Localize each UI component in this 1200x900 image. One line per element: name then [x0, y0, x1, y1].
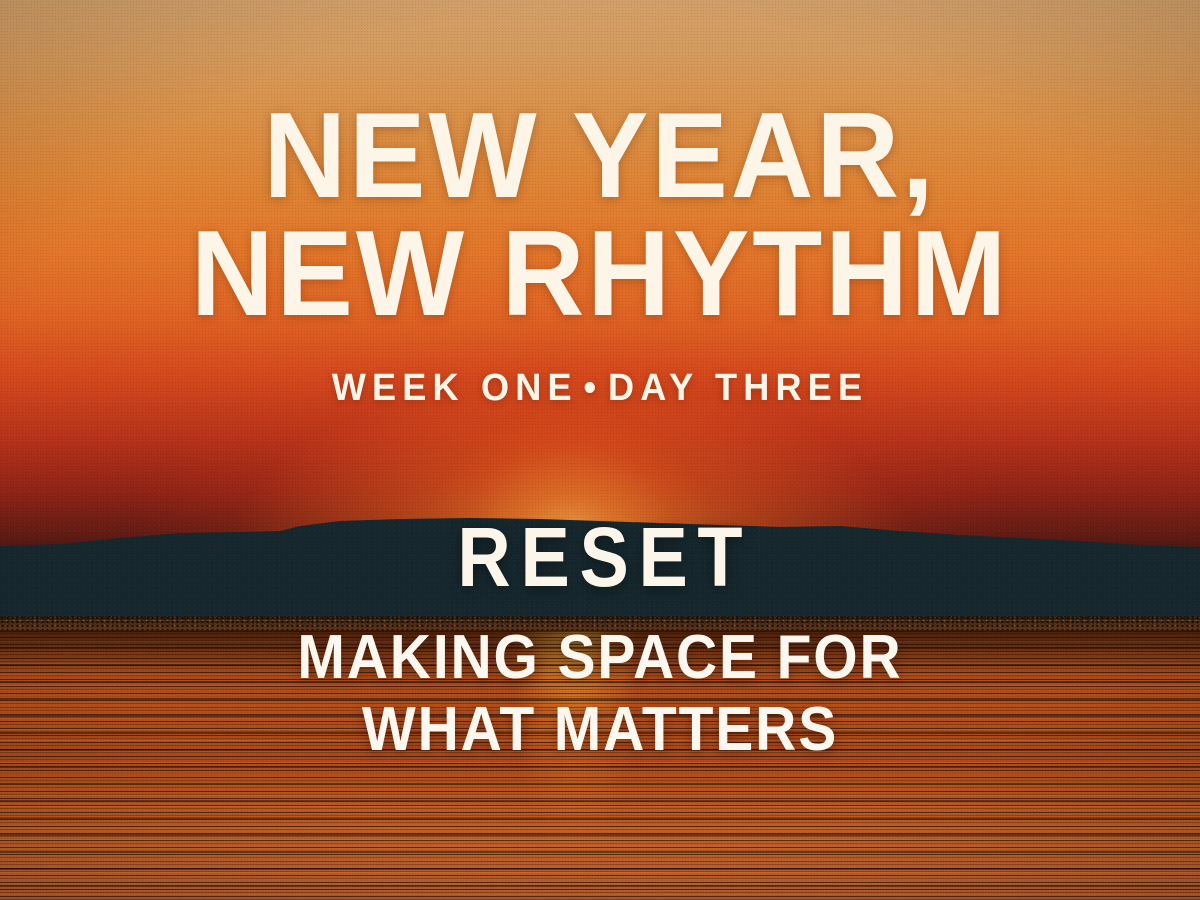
poster-canvas: NEW YEAR, NEW RHYTHM WEEK ONE•DAY THREE …	[0, 0, 1200, 900]
text-layer: NEW YEAR, NEW RHYTHM WEEK ONE•DAY THREE …	[0, 0, 1200, 900]
eyebrow-day: DAY THREE	[608, 367, 868, 409]
tagline-line-1: MAKING SPACE FOR	[48, 622, 1152, 694]
headline-line-2: NEW RHYTHM	[36, 214, 1164, 332]
section-title: RESET	[72, 513, 1128, 601]
tagline-line-2: WHAT MATTERS	[48, 694, 1152, 766]
bullet-separator-icon: •	[578, 367, 608, 409]
eyebrow-week: WEEK ONE	[332, 367, 578, 409]
tagline: MAKING SPACE FOR WHAT MATTERS	[48, 622, 1152, 766]
eyebrow-line: WEEK ONE•DAY THREE	[30, 366, 1170, 410]
headline-line-1: NEW YEAR,	[36, 96, 1164, 214]
